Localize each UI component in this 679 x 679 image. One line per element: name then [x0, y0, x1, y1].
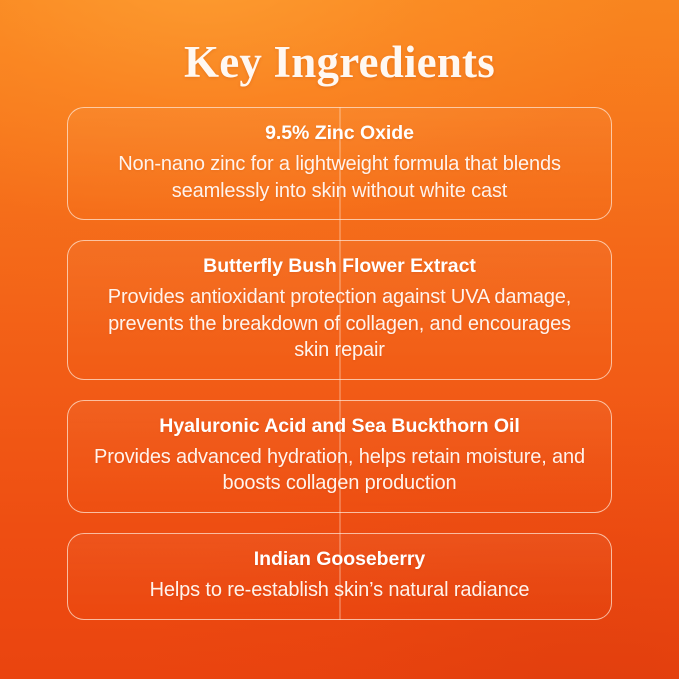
- ingredient-card-body: Provides advanced hydration, helps retai…: [94, 444, 585, 497]
- ingredient-card-body: Helps to re-establish skin’s natural rad…: [94, 577, 585, 604]
- ingredient-card-body: Non-nano zinc for a lightweight formula …: [94, 151, 585, 204]
- ingredient-card-butterfly-bush-flower-extract: Butterfly Bush Flower Extract Provides a…: [67, 240, 612, 380]
- ingredient-card-hyaluronic-acid-sea-buckthorn-oil: Hyaluronic Acid and Sea Buckthorn Oil Pr…: [67, 400, 612, 513]
- ingredient-card-indian-gooseberry: Indian Gooseberry Helps to re-establish …: [67, 533, 612, 620]
- ingredient-card-stack: 9.5% Zinc Oxide Non-nano zinc for a ligh…: [67, 107, 612, 620]
- ingredient-card-zinc-oxide: 9.5% Zinc Oxide Non-nano zinc for a ligh…: [67, 107, 612, 220]
- ingredient-card-heading: Butterfly Bush Flower Extract: [94, 254, 585, 279]
- page-title: Key Ingredients: [184, 40, 495, 85]
- ingredient-card-heading: Indian Gooseberry: [94, 547, 585, 572]
- ingredient-card-body: Provides antioxidant protection against …: [94, 284, 585, 364]
- ingredient-card-heading: 9.5% Zinc Oxide: [94, 121, 585, 146]
- ingredients-infographic: Key Ingredients 9.5% Zinc Oxide Non-nano…: [0, 0, 679, 679]
- ingredient-card-heading: Hyaluronic Acid and Sea Buckthorn Oil: [94, 414, 585, 439]
